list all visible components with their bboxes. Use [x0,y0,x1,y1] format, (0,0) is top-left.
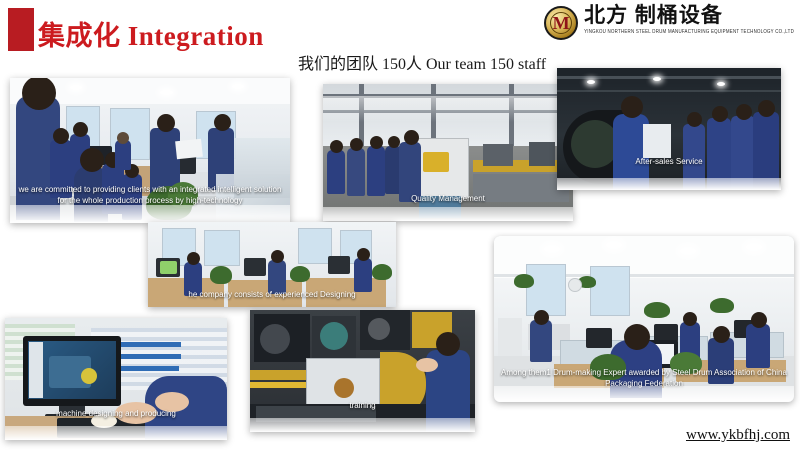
photo-caption: he company consists of experienced Desig… [148,290,396,301]
photo-caption: we are committed to providing clients wi… [10,185,290,207]
photo-scene [250,310,475,432]
logo-emblem-letter: M [553,14,570,32]
company-logo: M 北方 制桶设备 YINGKOU NORTHERN STEEL DRUM MA… [544,5,794,45]
logo-company-name-en: YINGKOU NORTHERN STEEL DRUM MANUFACTURIN… [584,28,794,34]
photo-after-sales[interactable]: After-sales Service [557,68,781,190]
presentation-slide: 集成化 Integration 我们的团队 150人 Our team 150 … [0,0,800,450]
photo-caption: Quality Management [323,194,573,205]
title-accent-block [8,8,34,51]
logo-emblem-icon: M [544,6,578,40]
logo-text: 北方 制桶设备 YINGKOU NORTHERN STEEL DRUM MANU… [584,5,794,33]
subtitle-team-size: 我们的团队 150人 Our team 150 staff [298,50,546,74]
photo-caption: machine designing and producing [5,409,227,420]
photo-cad-station[interactable]: machine designing and producing [5,318,227,440]
photo-design-office[interactable]: he company consists of experienced Desig… [148,222,396,307]
logo-company-name-cn: 北方 制桶设备 [584,5,723,27]
photo-caption: training [250,401,475,412]
photo-training[interactable]: training [250,310,475,432]
photo-workshop-tour[interactable]: Quality Management [323,84,573,221]
photo-office-meeting[interactable]: we are committed to providing clients wi… [10,78,290,223]
website-url[interactable]: www.ykbfhj.com [686,427,790,444]
photo-caption: After-sales Service [557,157,781,168]
photo-scene [557,68,781,190]
photo-scene [5,318,227,440]
photo-caption: Among them1 Drum-making Expert awarded b… [494,368,794,390]
photo-open-office[interactable]: Among them1 Drum-making Expert awarded b… [494,236,794,402]
page-title: 集成化 Integration [38,14,264,53]
